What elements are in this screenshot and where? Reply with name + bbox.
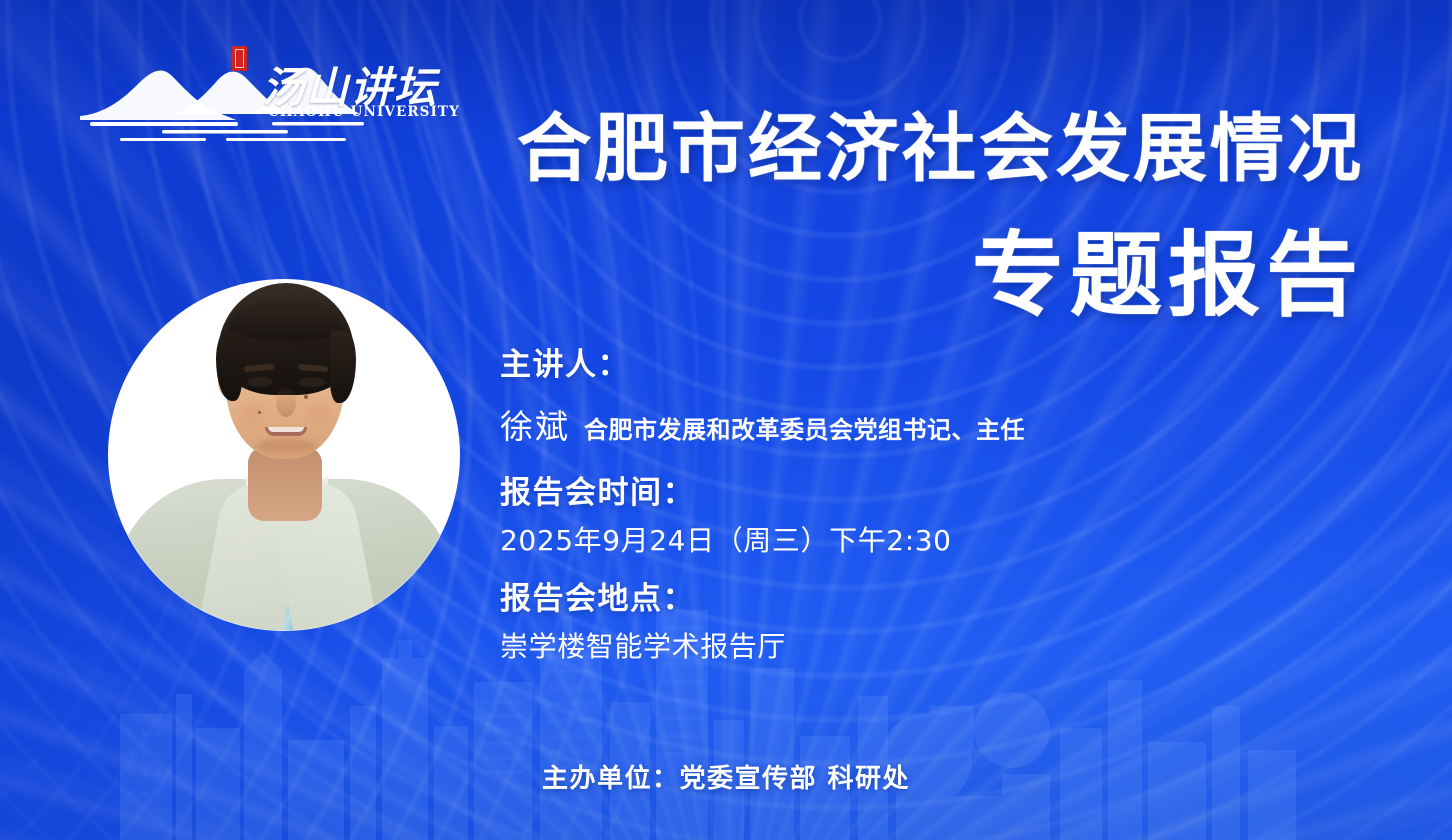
speaker-name: 徐斌 [500, 400, 570, 448]
teeth-shape [268, 427, 304, 432]
eye-left [247, 377, 273, 387]
logo-name-en: CHAOHU UNIVERSITY [268, 104, 460, 120]
poster-canvas: 汤山讲坛 CHAOHU UNIVERSITY 合肥市经济社会发展情况 专题报告 [0, 0, 1452, 840]
speaker-row: 徐斌 合肥市发展和改革委员会党组书记、主任 [500, 400, 1380, 448]
poster-title: 合肥市经济社会发展情况 专题报告 [517, 112, 1364, 322]
title-line-1: 合肥市经济社会发展情况 [517, 112, 1364, 186]
event-details: 主讲人： 徐斌 合肥市发展和改革委员会党组书记、主任 报告会时间： 2025年9… [500, 346, 1380, 666]
cheek-right [306, 403, 332, 421]
time-value: 2025年9月24日（周三）下午2:30 [500, 523, 1380, 559]
time-label: 报告会时间： [500, 474, 1380, 514]
speaker-label: 主讲人： [500, 346, 1380, 386]
venue-label: 报告会地点： [500, 580, 1380, 620]
face-mole-right [304, 395, 308, 399]
venue-value: 崇学楼智能学术报告厅 [500, 629, 1380, 665]
speaker-title: 合肥市发展和改革委员会党组书记、主任 [584, 410, 1025, 445]
organizer-footer: 主办单位：党委宣传部 科研处 [0, 758, 1452, 795]
chaohu-university-logo: 汤山讲坛 CHAOHU UNIVERSITY [76, 52, 416, 148]
hair-side-right [330, 331, 356, 403]
chin-shadow [256, 439, 316, 453]
title-line-2: 专题报告 [517, 230, 1364, 322]
red-seal-icon [232, 46, 247, 71]
eye-right [299, 377, 325, 387]
cheek-left [240, 403, 266, 421]
face-mole-left [258, 411, 261, 414]
speaker-portrait [108, 235, 460, 631]
portrait-illustration [108, 235, 460, 631]
nose-shape [276, 387, 296, 417]
